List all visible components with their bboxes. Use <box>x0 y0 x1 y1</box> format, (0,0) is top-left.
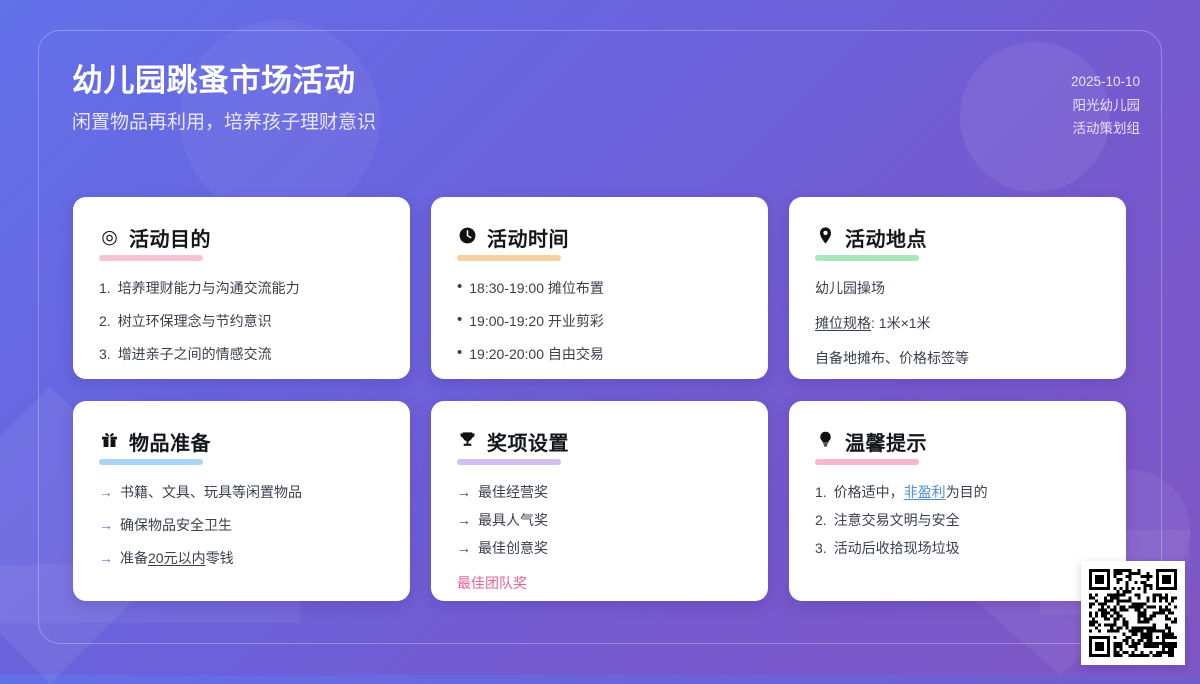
arrow-icon: → <box>99 513 113 537</box>
list-item: → 准备20元以内零钱 <box>99 546 384 570</box>
list-text: 活动后收拾现场垃圾 <box>834 536 1100 560</box>
target-icon: ◎ <box>99 228 120 247</box>
list-item: 3. 活动后收拾现场垃圾 <box>815 536 1100 560</box>
list-text: 19:20-20:00 自由交易 <box>469 342 742 366</box>
qr-code-image <box>1089 569 1177 657</box>
list-item: → 确保物品安全卫生 <box>99 513 384 537</box>
card-tips-underline <box>815 459 919 465</box>
header-date: 2025-10-10 <box>1071 70 1140 94</box>
card-tips-title: 温馨提示 <box>845 427 927 456</box>
card-location-header: 活动地点 <box>815 223 1100 252</box>
location-spec-label: 摊位规格 <box>815 315 871 331</box>
list-text-underlined: 20元以内 <box>148 550 206 566</box>
card-awards-body: → 最佳经营奖 → 最具人气奖 → 最佳创意奖 最佳团队奖 <box>457 480 742 595</box>
arrow-icon: → <box>457 536 471 560</box>
arrow-icon: → <box>99 480 113 504</box>
card-time-header: 活动时间 <box>457 223 742 252</box>
card-location-body: 幼儿园操场 摊位规格: 1米×1米 自备地摊布、价格标签等 <box>815 276 1100 370</box>
list-text: 注意交易文明与安全 <box>834 508 1100 532</box>
card-time-underline <box>457 255 561 261</box>
page-title: 幼儿园跳蚤市场活动 <box>72 62 1140 101</box>
card-purpose-header: ◎ 活动目的 <box>99 223 384 252</box>
list-marker: • <box>457 309 462 332</box>
card-tips-body: 1. 价格适中，非盈利为目的 2. 注意交易文明与安全 3. 活动后收拾现场垃圾 <box>815 480 1100 560</box>
card-location-title: 活动地点 <box>845 223 927 252</box>
gift-icon <box>99 430 120 453</box>
header-meta: 2025-10-10 阳光幼儿园 活动策划组 <box>1071 70 1140 141</box>
list-text: 价格适中，非盈利为目的 <box>834 480 1100 504</box>
header-organization: 阳光幼儿园 <box>1071 94 1140 118</box>
list-item: • 19:00-19:20 开业剪彩 <box>457 309 742 333</box>
card-awards-underline <box>457 459 561 465</box>
card-time-title: 活动时间 <box>487 223 569 252</box>
clock-icon <box>457 226 478 249</box>
list-text-highlight: 非盈利 <box>904 484 946 500</box>
list-marker: 3. <box>99 342 111 366</box>
list-text: 最佳创意奖 <box>478 536 742 560</box>
list-item: 2. 树立环保理念与节约意识 <box>99 309 384 333</box>
list-text-pre: 价格适中， <box>834 484 904 500</box>
arrow-icon: → <box>99 546 113 570</box>
location-venue: 幼儿园操场 <box>815 276 1100 300</box>
lightbulb-icon <box>815 430 836 453</box>
arrow-icon: → <box>457 508 471 532</box>
list-marker: 2. <box>99 309 111 333</box>
list-item: 3. 增进亲子之间的情感交流 <box>99 342 384 366</box>
header-team: 活动策划组 <box>1071 117 1140 141</box>
list-marker: • <box>457 276 462 299</box>
list-item: • 19:20-20:00 自由交易 <box>457 342 742 366</box>
location-spec-value: : 1米×1米 <box>871 315 931 331</box>
list-item: 1. 培养理财能力与沟通交流能力 <box>99 276 384 300</box>
list-item: → 最佳创意奖 <box>457 536 742 560</box>
page-subtitle: 闲置物品再利用，培养孩子理财意识 <box>72 111 1140 136</box>
awards-highlight: 最佳团队奖 <box>457 571 742 595</box>
card-tips[interactable]: 温馨提示 1. 价格适中，非盈利为目的 2. 注意交易文明与安全 3. 活动后收… <box>789 401 1126 601</box>
list-item: → 最具人气奖 <box>457 508 742 532</box>
qr-code[interactable] <box>1081 561 1185 665</box>
card-location-underline <box>815 255 919 261</box>
card-awards-title: 奖项设置 <box>487 427 569 456</box>
list-marker: 1. <box>99 276 111 300</box>
map-pin-icon <box>815 226 836 249</box>
list-item: • 18:30-19:00 摊位布置 <box>457 276 742 300</box>
card-items-header: 物品准备 <box>99 427 384 456</box>
card-purpose[interactable]: ◎ 活动目的 1. 培养理财能力与沟通交流能力 2. 树立环保理念与节约意识 3… <box>73 197 410 379</box>
poster-header: 幼儿园跳蚤市场活动 闲置物品再利用，培养孩子理财意识 2025-10-10 阳光… <box>72 62 1140 172</box>
list-text: 最佳经营奖 <box>478 480 742 504</box>
list-item: → 书籍、文具、玩具等闲置物品 <box>99 480 384 504</box>
card-items-body: → 书籍、文具、玩具等闲置物品 → 确保物品安全卫生 → 准备20元以内零钱 <box>99 480 384 570</box>
arrow-icon: → <box>457 480 471 504</box>
list-item: 1. 价格适中，非盈利为目的 <box>815 480 1100 504</box>
list-text: 书籍、文具、玩具等闲置物品 <box>120 480 384 504</box>
list-item: → 最佳经营奖 <box>457 480 742 504</box>
card-time-body: • 18:30-19:00 摊位布置 • 19:00-19:20 开业剪彩 • … <box>457 276 742 366</box>
list-text: 最具人气奖 <box>478 508 742 532</box>
card-awards[interactable]: 奖项设置 → 最佳经营奖 → 最具人气奖 → 最佳创意奖 最佳团队奖 <box>431 401 768 601</box>
list-text: 18:30-19:00 摊位布置 <box>469 276 742 300</box>
list-text: 培养理财能力与沟通交流能力 <box>118 276 384 300</box>
list-text-post: 零钱 <box>206 550 234 566</box>
list-marker: 1. <box>815 480 827 504</box>
location-spec: 摊位规格: 1米×1米 <box>815 311 1100 335</box>
card-items-title: 物品准备 <box>129 427 211 456</box>
card-awards-header: 奖项设置 <box>457 427 742 456</box>
list-text: 确保物品安全卫生 <box>120 513 384 537</box>
list-text: 准备20元以内零钱 <box>120 546 384 570</box>
list-marker: 3. <box>815 536 827 560</box>
list-marker: • <box>457 342 462 365</box>
list-item: 2. 注意交易文明与安全 <box>815 508 1100 532</box>
list-text-pre: 准备 <box>120 550 148 566</box>
card-purpose-body: 1. 培养理财能力与沟通交流能力 2. 树立环保理念与节约意识 3. 增进亲子之… <box>99 276 384 366</box>
list-marker: 2. <box>815 508 827 532</box>
list-text: 树立环保理念与节约意识 <box>118 309 384 333</box>
card-items[interactable]: 物品准备 → 书籍、文具、玩具等闲置物品 → 确保物品安全卫生 → 准备20元以… <box>73 401 410 601</box>
list-text-post: 为目的 <box>946 484 988 500</box>
card-tips-header: 温馨提示 <box>815 427 1100 456</box>
list-text: 19:00-19:20 开业剪彩 <box>469 309 742 333</box>
card-purpose-underline <box>99 255 203 261</box>
trophy-icon <box>457 430 478 453</box>
card-time[interactable]: 活动时间 • 18:30-19:00 摊位布置 • 19:00-19:20 开业… <box>431 197 768 379</box>
card-items-underline <box>99 459 203 465</box>
card-location[interactable]: 活动地点 幼儿园操场 摊位规格: 1米×1米 自备地摊布、价格标签等 <box>789 197 1126 379</box>
list-text: 增进亲子之间的情感交流 <box>118 342 384 366</box>
card-purpose-title: 活动目的 <box>129 223 211 252</box>
card-grid: ◎ 活动目的 1. 培养理财能力与沟通交流能力 2. 树立环保理念与节约意识 3… <box>73 197 1128 601</box>
location-note: 自备地摊布、价格标签等 <box>815 346 1100 370</box>
